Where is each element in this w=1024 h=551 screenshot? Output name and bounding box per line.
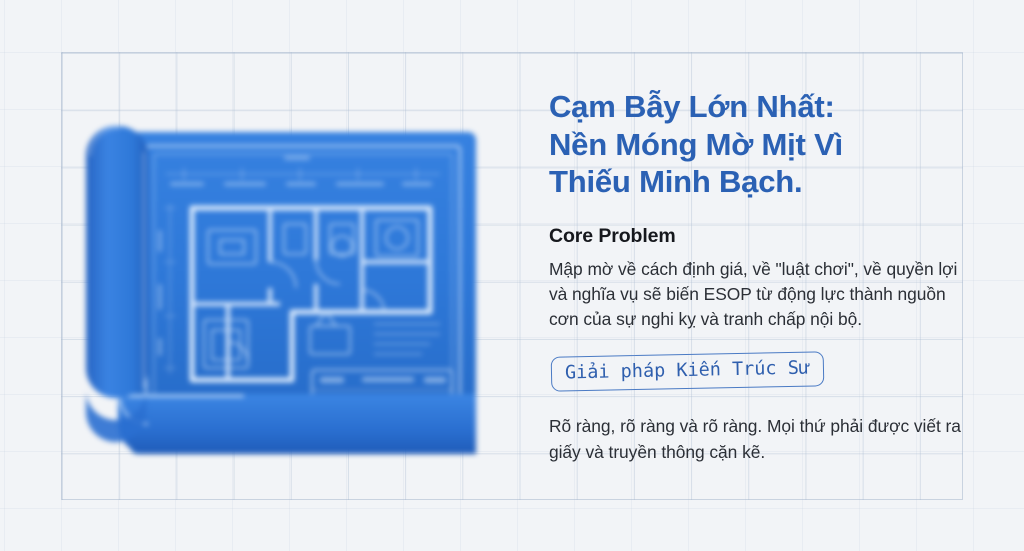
page-title: Cạm Bẫy Lớn Nhất: Nền Móng Mờ Mịt Vì Thi… — [549, 88, 969, 201]
stamp-container: Giải pháp Kiến Trúc Sư — [549, 354, 969, 394]
architect-solution-stamp: Giải pháp Kiến Trúc Sư — [551, 351, 825, 392]
solution-body: Rõ ràng, rõ ràng và rõ ràng. Mọi thứ phả… — [549, 414, 969, 466]
text-column: Cạm Bẫy Lớn Nhất: Nền Móng Mờ Mịt Vì Thi… — [549, 88, 969, 466]
blueprint-illustration — [74, 112, 494, 467]
slide-canvas: Cạm Bẫy Lớn Nhất: Nền Móng Mờ Mịt Vì Thi… — [0, 0, 1024, 551]
core-problem-body: Mập mờ về cách định giá, về "luật chơi",… — [549, 257, 969, 333]
section-heading-core-problem: Core Problem — [549, 225, 969, 248]
